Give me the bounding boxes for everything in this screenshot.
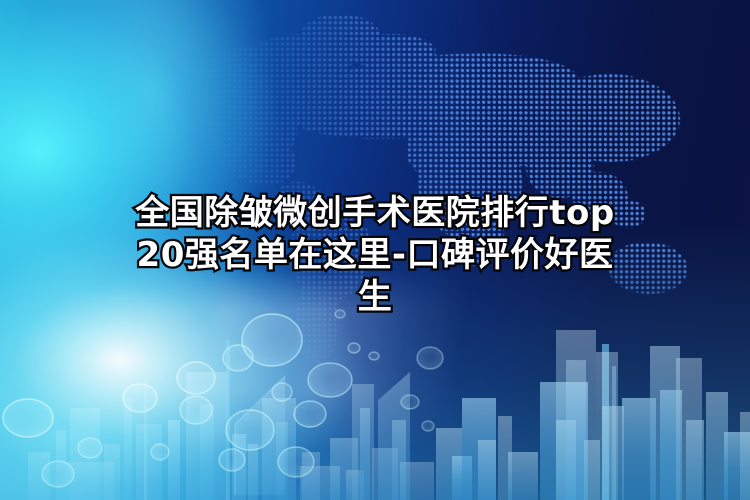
bubble-cluster [3, 310, 443, 487]
headline-line-3: 生 [0, 276, 750, 318]
skyline-far-left [28, 398, 162, 500]
headline-line-1: 全国除皱微创手术医院排行top [0, 192, 750, 234]
banner-image: 全国除皱微创手术医院排行top 20强名单在这里-口碑评价好医 生 [0, 0, 750, 500]
skyline-mid-left [144, 340, 340, 500]
headline-line-2: 20强名单在这里-口碑评价好医 [0, 234, 750, 276]
headline-text-block: 全国除皱微创手术医院排行top 20强名单在这里-口碑评价好医 生 [0, 192, 750, 318]
skyline-right [378, 344, 750, 500]
skyline-angular-tower [235, 376, 285, 495]
skyline-right-tall-towers [556, 330, 618, 500]
skyline-center [330, 384, 434, 500]
